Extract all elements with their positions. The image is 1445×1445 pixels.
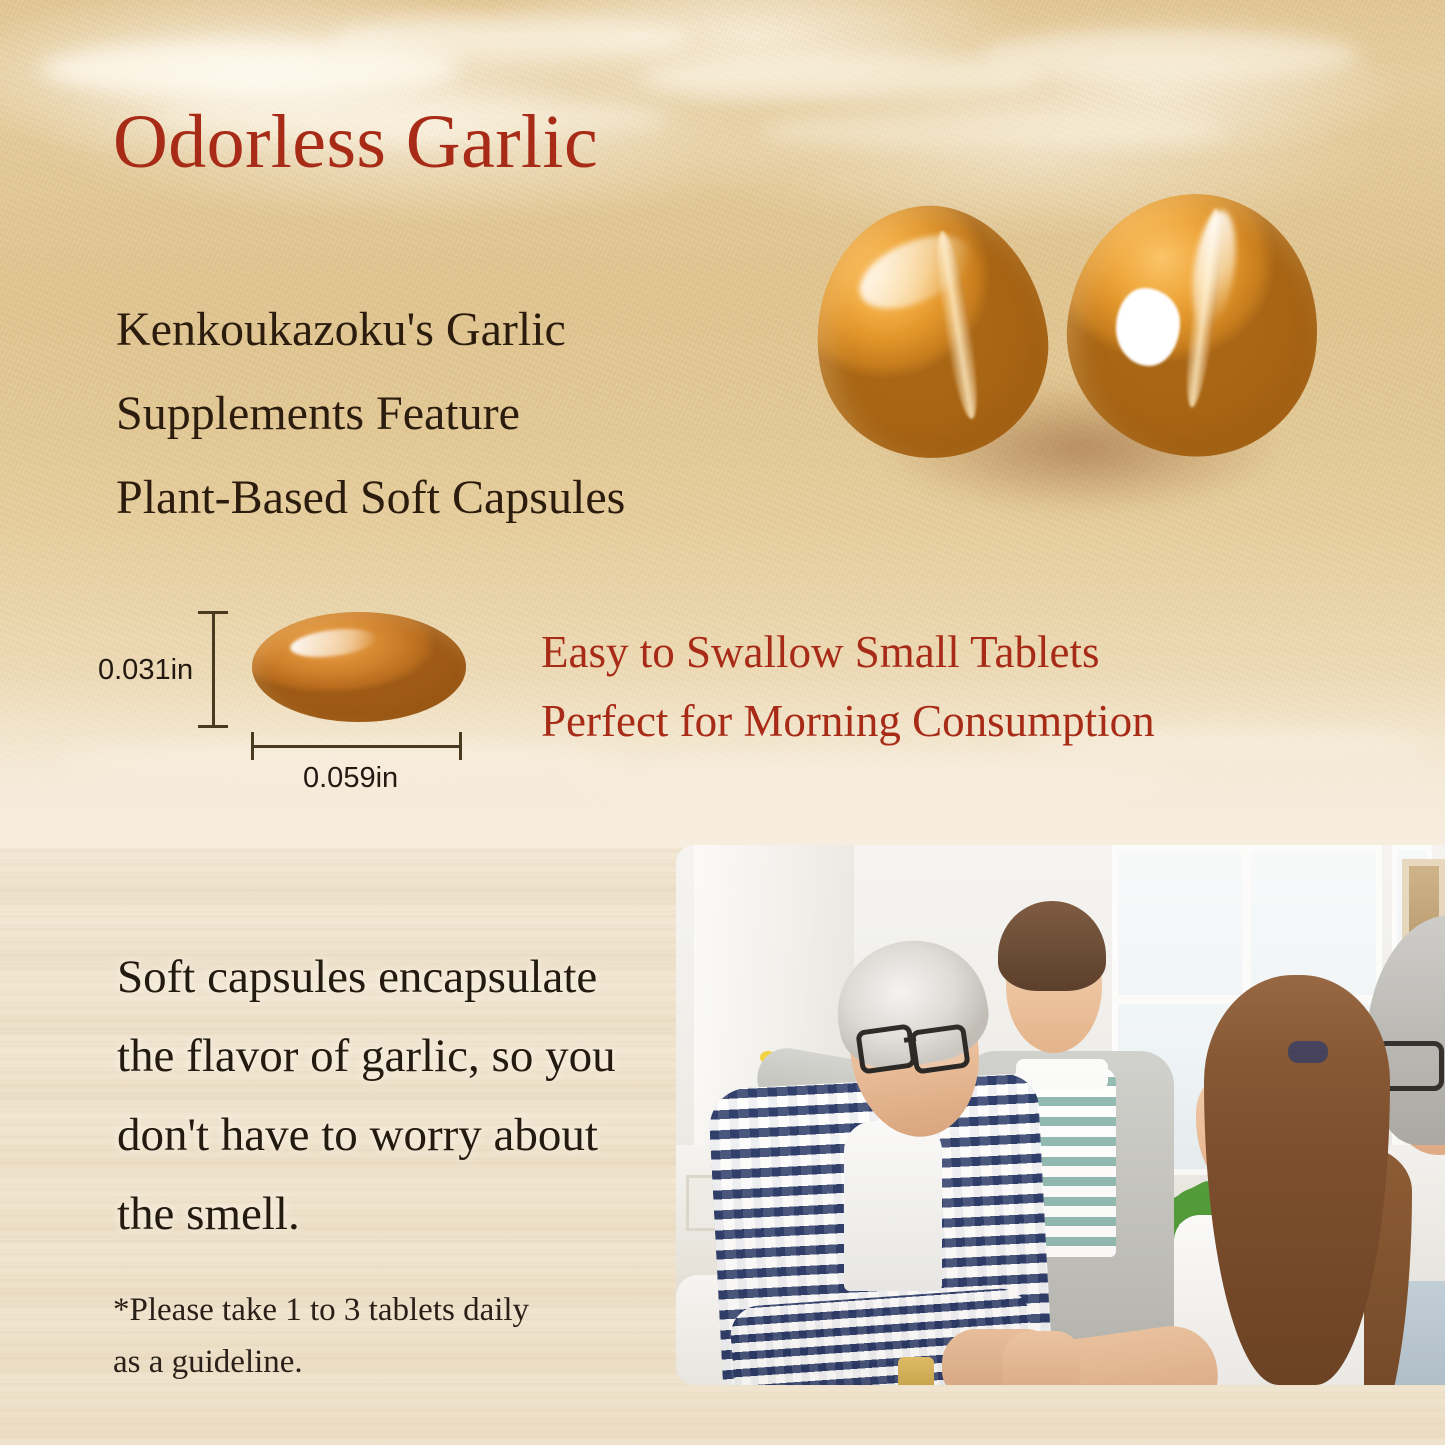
width-dimension-label: 0.059in xyxy=(303,762,398,795)
paper-wash-8 xyxy=(560,760,1180,802)
paper-wash-1 xyxy=(40,40,460,98)
body-copy-block: Soft capsules encapsulate the flavor of … xyxy=(117,938,616,1254)
photo-grandfather-glasses-right xyxy=(909,1023,971,1074)
dosage-note-line-1: *Please take 1 to 3 tablets daily xyxy=(113,1284,529,1336)
photo-wristwatch xyxy=(898,1357,934,1385)
width-dimension-line xyxy=(252,745,462,748)
body-copy-line-4: the smell. xyxy=(117,1175,616,1254)
red-headline-line-1: Easy to Swallow Small Tablets xyxy=(541,618,1155,687)
dosage-note-line-2: as a guideline. xyxy=(113,1336,529,1388)
photo-grandfather-glasses-left xyxy=(855,1023,917,1074)
family-chess-photo xyxy=(676,845,1445,1385)
page-title: Odorless Garlic xyxy=(113,104,598,182)
photo-girl-hand xyxy=(1002,1331,1080,1385)
paper-wash-4 xyxy=(980,28,1360,82)
capsule-closeup-photo xyxy=(792,190,1372,522)
paper-wash-6 xyxy=(760,110,1230,150)
product-marketing-image: Odorless Garlic Kenkoukazoku's Garlic Su… xyxy=(0,0,1445,1445)
subhead-line-3: Plant-Based Soft Capsules xyxy=(116,456,625,540)
paper-wash-2 xyxy=(330,16,690,62)
height-dimension-cap-bottom xyxy=(198,725,228,728)
subhead-line-1: Kenkoukazoku's Garlic xyxy=(116,288,625,372)
paper-wash-3 xyxy=(640,52,1040,102)
dosage-note: *Please take 1 to 3 tablets daily as a g… xyxy=(113,1284,529,1388)
subhead-block: Kenkoukazoku's Garlic Supplements Featur… xyxy=(116,288,625,540)
height-dimension-cap-top xyxy=(198,611,228,614)
body-copy-line-2: the flavor of garlic, so you xyxy=(117,1017,616,1096)
width-dimension-cap-left xyxy=(251,732,254,760)
subhead-line-2: Supplements Feature xyxy=(116,372,625,456)
height-dimension-line xyxy=(212,612,215,728)
photo-girl-hair-tie xyxy=(1288,1041,1328,1063)
red-headline-line-2: Perfect for Morning Consumption xyxy=(541,687,1155,756)
body-copy-line-1: Soft capsules encapsulate xyxy=(117,938,616,1017)
tablet-illustration xyxy=(252,612,466,722)
red-headline-block: Easy to Swallow Small Tablets Perfect fo… xyxy=(541,618,1155,756)
photo-grandfather-undershirt xyxy=(844,1121,942,1291)
body-copy-line-3: don't have to worry about xyxy=(117,1096,616,1175)
height-dimension-label: 0.031in xyxy=(98,654,193,687)
width-dimension-cap-right xyxy=(459,732,462,760)
